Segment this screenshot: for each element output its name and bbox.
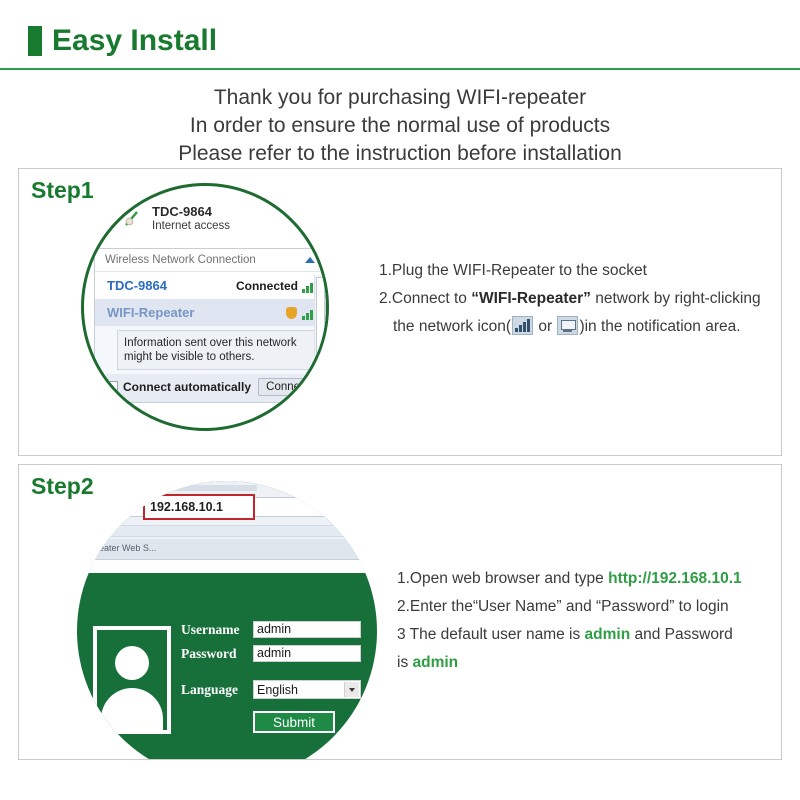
intro-line-2: In order to ensure the normal use of pro… — [0, 112, 800, 140]
language-row: Language English — [181, 680, 371, 699]
language-label: Language — [181, 682, 253, 698]
browser-menubar — [137, 485, 257, 491]
intro-line-1: Thank you for purchasing WIFI-repeater — [0, 84, 800, 112]
globe-icon — [124, 208, 144, 228]
submit-button[interactable]: Submit — [253, 711, 335, 733]
connect-automatically-label: Connect automatically — [123, 380, 251, 394]
line4-part-a: is — [397, 654, 413, 671]
step1-instruction-line-3: the network icon( or )in the notificatio… — [379, 313, 774, 341]
network-row-right — [286, 306, 317, 320]
tray-ssid: TDC-9864 — [152, 204, 310, 219]
network-monitor-icon — [557, 316, 578, 335]
step2-instruction-line-2: 2.Enter the“User Name” and “Password” to… — [397, 593, 782, 621]
chevron-up-icon[interactable] — [305, 257, 315, 263]
network-tray-summary: TDC-9864 Internet access — [120, 204, 310, 233]
line3-part-a: 3 The default user name is — [397, 626, 585, 643]
line3-part-a: the network icon( — [393, 318, 511, 335]
line3-part-c: and Password — [630, 626, 733, 643]
address-highlight-box: 192.168.10.1 — [143, 494, 255, 520]
step1-label: Step1 — [31, 177, 94, 204]
flyout-scrollbar[interactable] — [314, 275, 324, 387]
connect-button[interactable]: Connect — [258, 378, 317, 396]
line3-part-c: )in the notification area. — [579, 318, 740, 335]
step2-instructions: 1.Open web browser and type http://192.1… — [397, 565, 782, 677]
tray-status: Internet access — [152, 219, 310, 233]
router-login-form: Username admin Password admin Language E… — [181, 621, 371, 733]
line2-part-a: 2.Connect to — [379, 290, 471, 307]
browser-tab-title[interactable]: eater Web S... — [99, 543, 156, 553]
language-selected-value: English — [257, 683, 298, 697]
router-url: http://192.168.10.1 — [608, 570, 742, 587]
password-input[interactable]: admin — [253, 645, 361, 662]
username-label: Username — [181, 622, 253, 638]
line2-part-c: network by right-clicking — [591, 290, 761, 307]
step2-instruction-line-3: 3 The default user name is admin and Pas… — [397, 621, 782, 649]
signal-bars-icon — [512, 316, 533, 335]
flyout-footer: Connect automatically Connect — [95, 374, 325, 402]
accent-bar-icon — [28, 26, 42, 56]
flyout-header[interactable]: Wireless Network Connection — [95, 249, 325, 272]
line2-network-name: “WIFI-Repeater” — [471, 290, 591, 307]
network-list-item-repeater[interactable]: WIFI-Repeater — [95, 299, 325, 326]
avatar-body-icon — [101, 688, 163, 734]
step2-screenshot-circle: 192.168.10.1 eater Web S... Username adm… — [77, 481, 377, 760]
browser-tab-row[interactable]: eater Web S... — [77, 539, 377, 560]
network-name: TDC-9864 — [107, 278, 167, 293]
connect-automatically-checkbox[interactable] — [105, 381, 118, 394]
password-row: Password admin — [181, 645, 371, 662]
default-username: admin — [585, 626, 631, 643]
header-title-row: Easy Install — [28, 26, 217, 56]
flyout-header-label: Wireless Network Connection — [105, 254, 256, 266]
language-select[interactable]: English — [253, 680, 361, 699]
address-text: 192.168.10.1 — [150, 500, 223, 514]
step2-panel: Step2 192.168.10.1 eater Web S... Userna… — [18, 464, 782, 760]
avatar-head-icon — [115, 646, 149, 680]
header-divider — [0, 68, 800, 70]
line1-part-a: 1.Open web browser and type — [397, 570, 608, 587]
network-status: Connected — [236, 279, 298, 293]
page-header: Easy Install — [0, 0, 800, 72]
step1-instruction-line-2: 2.Connect to “WIFI-Repeater” network by … — [379, 285, 774, 313]
favorites-star-icon[interactable] — [121, 501, 132, 512]
step2-instruction-line-1: 1.Open web browser and type http://192.1… — [397, 565, 782, 593]
line3-part-b: or — [534, 318, 556, 335]
browser-page-top — [77, 560, 377, 573]
unsecured-shield-icon — [286, 307, 297, 319]
intro-line-3: Please refer to the instruction before i… — [0, 140, 800, 168]
username-input[interactable]: admin — [253, 621, 361, 638]
chevron-down-icon[interactable] — [344, 682, 359, 697]
browser-favorites-bar — [107, 525, 347, 537]
network-row-right: Connected — [236, 279, 317, 293]
scrollbar-thumb[interactable] — [316, 277, 325, 357]
default-password: admin — [413, 654, 459, 671]
step1-panel: Step1 TDC-9864 Internet access Wireless … — [18, 168, 782, 456]
browser-chrome: 192.168.10.1 eater Web S... — [77, 481, 377, 573]
network-security-note: Information sent over this network might… — [117, 330, 315, 370]
network-list-item-connected[interactable]: TDC-9864 Connected — [95, 272, 325, 299]
connect-automatically-row[interactable]: Connect automatically — [105, 380, 251, 394]
avatar — [93, 626, 171, 734]
wireless-network-flyout[interactable]: Wireless Network Connection TDC-9864 Con… — [94, 248, 326, 403]
username-row: Username admin — [181, 621, 371, 638]
password-label: Password — [181, 646, 253, 662]
step1-instruction-line-1: 1.Plug the WIFI-Repeater to the socket — [379, 257, 774, 285]
step1-instructions: 1.Plug the WIFI-Repeater to the socket 2… — [379, 257, 774, 341]
network-name: WIFI-Repeater — [107, 305, 194, 320]
page-title: Easy Install — [52, 26, 217, 56]
step2-instruction-line-4: is admin — [397, 649, 782, 677]
intro-block: Thank you for purchasing WIFI-repeater I… — [0, 84, 800, 168]
step1-screenshot-circle: TDC-9864 Internet access Wireless Networ… — [81, 183, 329, 431]
